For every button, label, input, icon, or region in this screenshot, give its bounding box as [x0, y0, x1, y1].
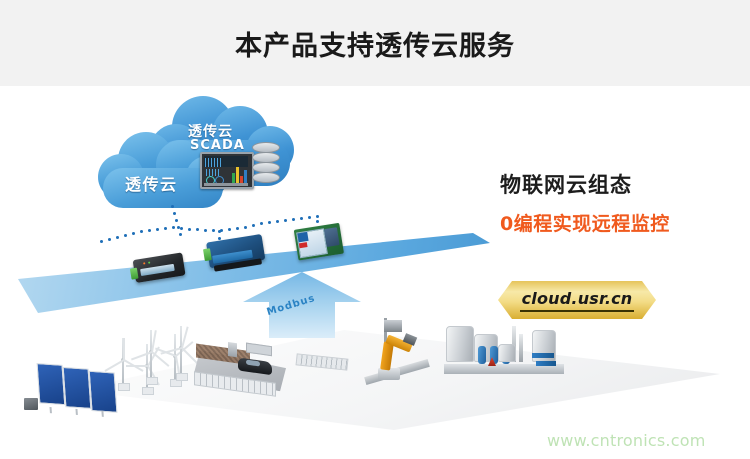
robot-arm [360, 318, 430, 380]
badge-underline [520, 310, 634, 312]
headline-primary: 物联网云组态 [500, 172, 740, 198]
cloud-front-label: 透传云 [125, 171, 178, 195]
headline-secondary: 0编程实现远程监控 [500, 212, 740, 236]
site-watermark: www.cntronics.com [547, 431, 705, 450]
scada-monitor-icon [200, 152, 254, 189]
wind-turbine [166, 326, 196, 376]
database-icon [252, 142, 278, 182]
solar-inverter-box [24, 398, 38, 410]
industrial-plant [444, 316, 574, 376]
cloud-url-badge[interactable]: cloud.usr.cn [498, 281, 656, 319]
cloud-scada-sublabel: SCADA [190, 138, 245, 153]
page-title: 本产品支持透传云服务 [0, 24, 750, 63]
poster-canvas: 本产品支持透传云服务 [0, 0, 750, 459]
badge-label: cloud.usr.cn [498, 289, 656, 308]
right-text-panel: 物联网云组态 0编程实现远程监控 [500, 172, 740, 236]
